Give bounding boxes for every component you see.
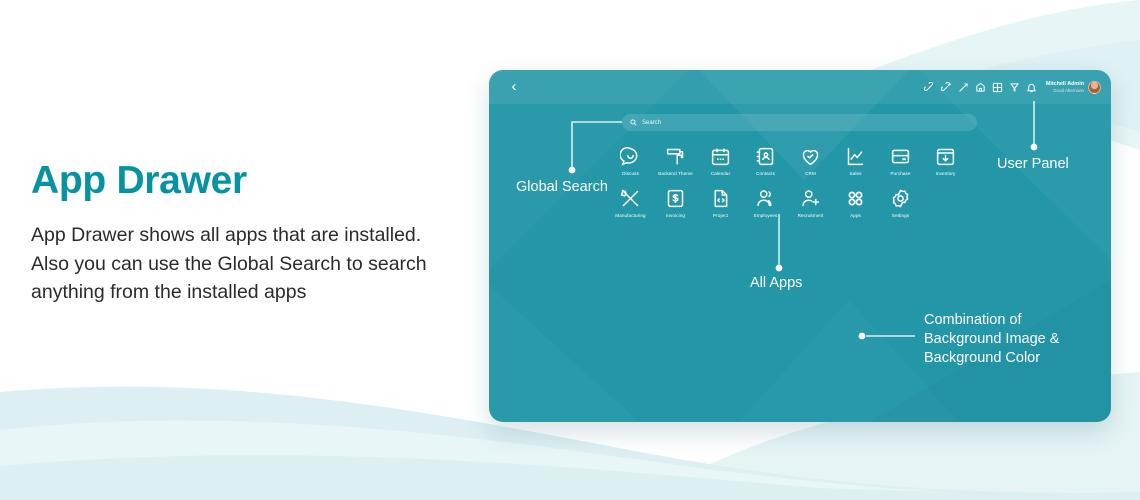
bell-icon[interactable] bbox=[1026, 82, 1037, 93]
app-row-2: Manufacturing Invoicing Project bbox=[608, 188, 923, 218]
callout-user-panel: User Panel bbox=[997, 155, 1069, 174]
app-label: Inventory bbox=[936, 171, 956, 176]
app-label: Manufacturing bbox=[615, 213, 645, 218]
page-title: App Drawer bbox=[31, 160, 451, 203]
app-drawer-panel: ‹ Mitchell Admin bbox=[489, 70, 1111, 422]
shop-icon[interactable] bbox=[975, 82, 986, 93]
avatar[interactable] bbox=[1088, 81, 1101, 94]
apps-dots-icon bbox=[845, 188, 866, 209]
inventory-box-icon bbox=[935, 146, 956, 167]
page-description: App Drawer shows all apps that are insta… bbox=[31, 221, 451, 307]
contacts-icon bbox=[755, 146, 776, 167]
app-item-invoicing[interactable]: Invoicing bbox=[653, 188, 698, 218]
app-label: Recruitment bbox=[798, 213, 824, 218]
callout-background-line-3: Background Color bbox=[924, 349, 1094, 368]
sales-chart-icon bbox=[845, 146, 866, 167]
app-item-recruitment[interactable]: Recruitment bbox=[788, 188, 833, 218]
app-row-1: Discuss Backend Theme Calendar bbox=[608, 146, 968, 176]
search-placeholder: Search bbox=[642, 120, 661, 126]
app-item-backend-theme[interactable]: Backend Theme bbox=[653, 146, 698, 176]
app-item-manufacturing[interactable]: Manufacturing bbox=[608, 188, 653, 218]
app-label: Discuss bbox=[622, 171, 639, 176]
invoicing-money-icon bbox=[665, 188, 686, 209]
app-label: Invoicing bbox=[666, 213, 685, 218]
back-chevron-icon[interactable]: ‹ bbox=[507, 78, 521, 96]
app-item-contacts[interactable]: Contacts bbox=[743, 146, 788, 176]
app-item-purchase[interactable]: Purchase bbox=[878, 146, 923, 176]
app-item-crm[interactable]: CRM bbox=[788, 146, 833, 176]
callout-global-search: Global Search bbox=[516, 178, 608, 197]
project-file-icon bbox=[710, 188, 731, 209]
tag-icon[interactable] bbox=[1009, 82, 1020, 93]
paint-roller-icon bbox=[665, 146, 686, 167]
employees-icon bbox=[755, 188, 776, 209]
app-label: Project bbox=[713, 213, 728, 218]
app-label: Settings bbox=[892, 213, 909, 218]
app-label: Contacts bbox=[756, 171, 775, 176]
discuss-icon bbox=[620, 146, 641, 167]
search-icon bbox=[630, 119, 637, 126]
app-item-inventory[interactable]: Inventory bbox=[923, 146, 968, 176]
app-item-calendar[interactable]: Calendar bbox=[698, 146, 743, 176]
app-item-settings[interactable]: Settings bbox=[878, 188, 923, 218]
callout-background-line-1: Combination of bbox=[924, 311, 1094, 330]
app-label: Purchase bbox=[890, 171, 910, 176]
callout-background-line-2: Background Image & bbox=[924, 330, 1094, 349]
app-item-employees[interactable]: Employees bbox=[743, 188, 788, 218]
global-search-input[interactable]: Search bbox=[622, 114, 977, 131]
recruitment-user-plus-icon bbox=[800, 188, 821, 209]
bug-icon[interactable] bbox=[958, 82, 969, 93]
app-label: Apps bbox=[850, 213, 861, 218]
grid-icon[interactable] bbox=[992, 82, 1003, 93]
app-label: Employees bbox=[754, 213, 778, 218]
copy-block: App Drawer App Drawer shows all apps tha… bbox=[31, 160, 451, 307]
settings-gear-icon bbox=[890, 188, 911, 209]
app-label: Backend Theme bbox=[658, 171, 693, 176]
app-label: Calendar bbox=[711, 171, 730, 176]
app-label: Sales bbox=[850, 171, 862, 176]
app-label: CRM bbox=[805, 171, 816, 176]
callout-background-combination: Combination of Background Image & Backgr… bbox=[924, 311, 1094, 368]
crm-heart-icon bbox=[800, 146, 821, 167]
app-item-sales[interactable]: Sales bbox=[833, 146, 878, 176]
app-item-project[interactable]: Project bbox=[698, 188, 743, 218]
user-text: Mitchell Admin Good Afternoon bbox=[1046, 81, 1084, 92]
messages-icon[interactable] bbox=[941, 82, 952, 93]
manufacturing-tools-icon bbox=[620, 188, 641, 209]
user-greeting: Good Afternoon bbox=[1046, 88, 1084, 93]
calendar-icon bbox=[710, 146, 731, 167]
purchase-card-icon bbox=[890, 146, 911, 167]
callout-all-apps: All Apps bbox=[750, 274, 802, 293]
user-identity[interactable]: Mitchell Admin Good Afternoon bbox=[1046, 81, 1101, 94]
user-panel[interactable]: Mitchell Admin Good Afternoon bbox=[924, 77, 1101, 97]
link-icon[interactable] bbox=[924, 82, 935, 93]
app-item-discuss[interactable]: Discuss bbox=[608, 146, 653, 176]
app-item-apps[interactable]: Apps bbox=[833, 188, 878, 218]
user-name: Mitchell Admin bbox=[1046, 81, 1084, 87]
